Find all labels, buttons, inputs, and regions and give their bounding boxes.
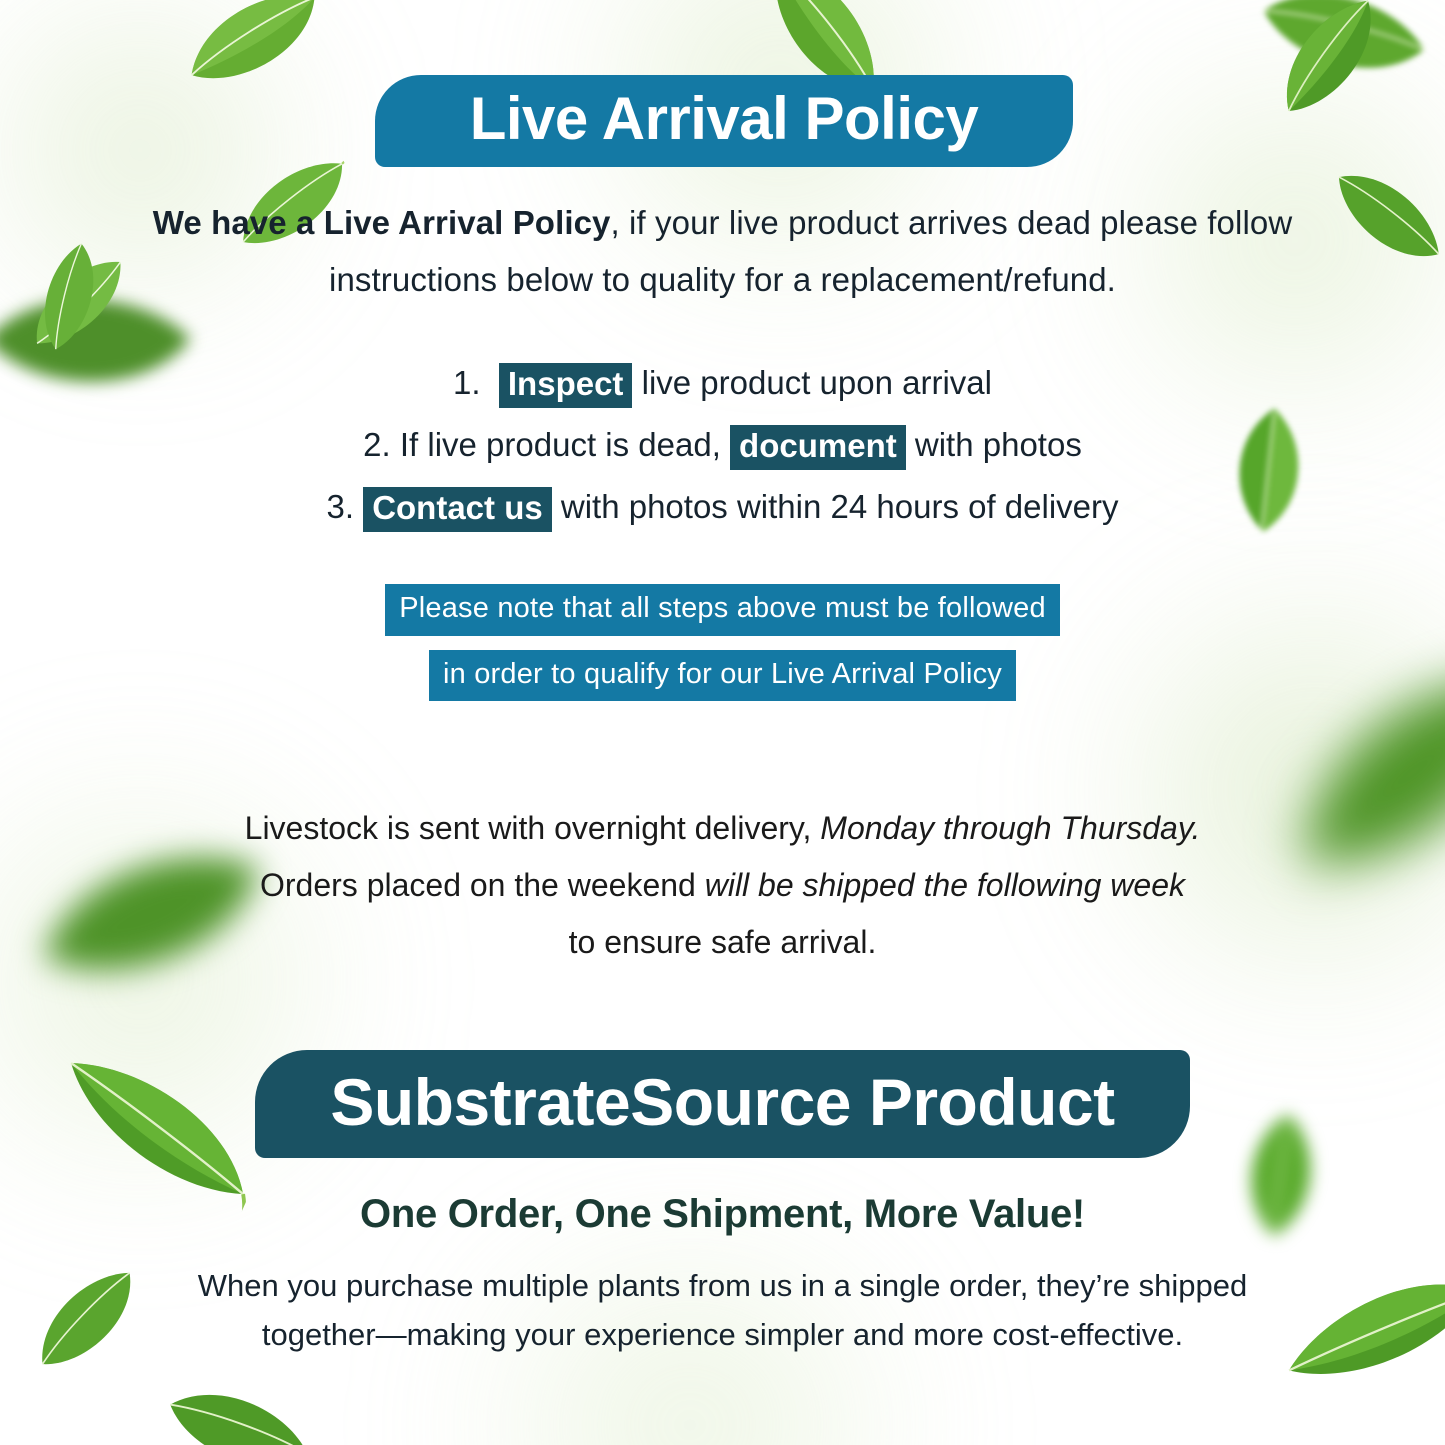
list-item: 3. Contact us with photos within 24 hour… xyxy=(0,476,1445,538)
policy-page-content: Live Arrival Policy We have a Live Arriv… xyxy=(0,0,1445,1445)
step-highlight-inspect: Inspect xyxy=(499,363,633,408)
product-description: When you purchase multiple plants from u… xyxy=(0,1262,1445,1360)
note-line-2: in order to qualify for our Live Arrival… xyxy=(429,650,1016,702)
policy-note-block: Please note that all steps above must be… xyxy=(0,584,1445,701)
livestock-line-2: Orders placed on the weekend will be shi… xyxy=(0,857,1445,914)
step-text: with photos within 24 hours of delivery xyxy=(561,488,1119,525)
livestock-line-2-italic: will be shipped the following week xyxy=(705,867,1185,903)
list-item: 2. If live product is dead, document wit… xyxy=(0,414,1445,476)
step-highlight-document: document xyxy=(730,425,906,470)
step-number: 2. xyxy=(363,426,391,463)
product-description-line-1: When you purchase multiple plants from u… xyxy=(0,1262,1445,1311)
step-number: 3. xyxy=(326,488,354,525)
intro-line-1: We have a Live Arrival Policy, if your l… xyxy=(0,195,1445,252)
product-banner-title: SubstrateSource Product xyxy=(330,1069,1114,1135)
note-row: in order to qualify for our Live Arrival… xyxy=(0,650,1445,702)
policy-steps-list: 1. Inspect live product upon arrival 2. … xyxy=(0,352,1445,538)
product-description-line-2: together—making your experience simpler … xyxy=(0,1311,1445,1360)
intro-rest: , if your live product arrives dead plea… xyxy=(611,204,1293,241)
page-title: Live Arrival Policy xyxy=(470,89,979,149)
livestock-line-1-normal: Livestock is sent with overnight deliver… xyxy=(245,810,812,846)
substratesource-product-banner: SubstrateSource Product xyxy=(255,1050,1190,1158)
step-text-before: If live product is dead, xyxy=(400,426,721,463)
note-line-1: Please note that all steps above must be… xyxy=(385,584,1060,636)
livestock-shipping-paragraph: Livestock is sent with overnight deliver… xyxy=(0,800,1445,971)
step-number: 1. xyxy=(453,364,481,401)
product-subheading: One Order, One Shipment, More Value! xyxy=(0,1192,1445,1237)
live-arrival-policy-banner: Live Arrival Policy xyxy=(375,75,1073,167)
livestock-line-1-italic: Monday through Thursday. xyxy=(820,810,1200,846)
intro-lead: We have a Live Arrival Policy xyxy=(153,204,611,241)
step-highlight-contact-us[interactable]: Contact us xyxy=(363,487,552,532)
intro-line-2: instructions below to quality for a repl… xyxy=(0,252,1445,309)
step-text: with photos xyxy=(915,426,1082,463)
livestock-line-1: Livestock is sent with overnight deliver… xyxy=(0,800,1445,857)
intro-paragraph: We have a Live Arrival Policy, if your l… xyxy=(0,195,1445,309)
livestock-line-2-normal: Orders placed on the weekend xyxy=(260,867,696,903)
livestock-line-3: to ensure safe arrival. xyxy=(0,914,1445,971)
list-item: 1. Inspect live product upon arrival xyxy=(0,352,1445,414)
note-row: Please note that all steps above must be… xyxy=(0,584,1445,636)
step-text: live product upon arrival xyxy=(642,364,992,401)
